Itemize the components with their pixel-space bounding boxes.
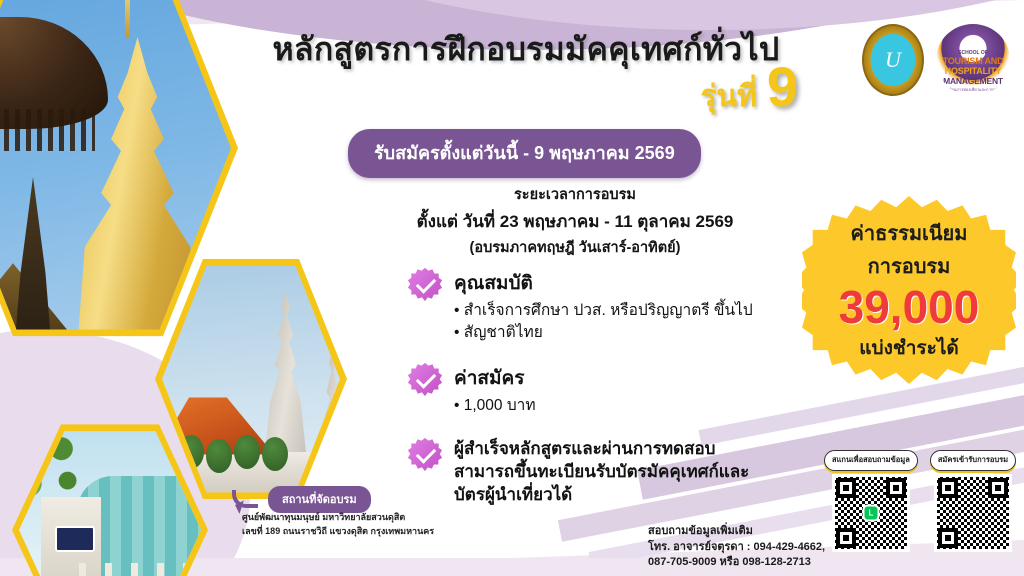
section-qualification: คุณสมบัติ • สำเร็จการศึกษา ปวส. หรือปริญ… bbox=[408, 268, 753, 345]
qr-code-inquiry-icon[interactable]: L bbox=[832, 474, 910, 552]
entrance-columns bbox=[79, 563, 199, 576]
edition-row: รุ่นที่ 9 bbox=[196, 62, 856, 120]
school-of-tourism-hospitality-management-logo-icon: SCHOOL OF TOURISM AND HOSPITALITY MANAGE… bbox=[936, 24, 1010, 96]
list-item: • สัญชาติไทย bbox=[454, 322, 753, 344]
venue-address-line2: เลขที่ 189 ถนนราชวิถี แขวงดุสิต กรุงเทพม… bbox=[242, 525, 434, 539]
qr-finder-top-left bbox=[938, 478, 958, 498]
qr-finder-top-right bbox=[988, 478, 1008, 498]
section-certification: ผู้สำเร็จหลักสูตรและผ่านการทดสอบ สามารถข… bbox=[408, 438, 749, 507]
fee-amount: 39,000 bbox=[839, 283, 980, 331]
qr-item-inquiry[interactable]: สแกนเพื่อสอบถามข้อมูล L bbox=[824, 450, 918, 552]
application-fee-body: ค่าสมัคร • 1,000 บาท bbox=[454, 363, 536, 417]
poster-root: หลักสูตรการฝึกอบรมมัคคุเทศก์ทั่วไป รุ่นท… bbox=[0, 0, 1024, 576]
edition-label: รุ่นที่ bbox=[700, 73, 756, 120]
qr-item-register[interactable]: สมัครเข้ารับการอบรม bbox=[930, 450, 1016, 552]
duration-range: ตั้งแต่ วันที่ 23 พฤษภาคม - 11 ตุลาคม 25… bbox=[380, 208, 770, 235]
qr-code-group: สแกนเพื่อสอบถามข้อมูล L สมัครเข้ารับการอ… bbox=[824, 450, 1016, 552]
fee-installment-note: แบ่งชำระได้ bbox=[859, 333, 958, 363]
fee-label-line2: การอบรม bbox=[868, 250, 951, 282]
fee-label-line1: ค่าธรรมเนียม bbox=[851, 217, 968, 249]
qr-code-register-icon[interactable] bbox=[934, 474, 1012, 552]
contact-heading: สอบถามข้อมูลเพิ่มเติม bbox=[648, 524, 825, 540]
check-burst-icon bbox=[408, 363, 442, 397]
list-item: • 1,000 บาท bbox=[454, 395, 536, 417]
school-logo-line3: HOSPITALITY bbox=[945, 66, 1002, 76]
qualification-body: คุณสมบัติ • สำเร็จการศึกษา ปวส. หรือปริญ… bbox=[454, 268, 753, 345]
school-logo-line2: TOURISM AND bbox=[943, 56, 1004, 66]
qr-finder-top-left bbox=[836, 478, 856, 498]
venue-badge: สถานที่จัดอบรม bbox=[268, 486, 371, 513]
line-app-icon: L bbox=[862, 505, 879, 522]
check-burst-icon bbox=[408, 268, 442, 302]
duration-heading: ระยะเวลาการอบรม bbox=[380, 183, 770, 206]
topiary-tree bbox=[262, 437, 288, 471]
photo-wat-arun-inner bbox=[162, 261, 340, 497]
venue-address: ศูนย์พัฒนาทุนมนุษย์ มหาวิทยาลัยสวนดุสิต … bbox=[242, 511, 434, 538]
suan-dusit-university-seal-icon: U bbox=[862, 24, 924, 96]
contact-block: สอบถามข้อมูลเพิ่มเติม โทร. อาจารย์จตุรดา… bbox=[648, 524, 825, 571]
duration-note: (อบรมภาคทฤษฎี วันเสาร์-อาทิตย์) bbox=[380, 236, 770, 259]
qr-finder-bottom-left bbox=[836, 528, 856, 548]
list-item: • สำเร็จการศึกษา ปวส. หรือปริญญาตรี ขึ้น… bbox=[454, 300, 753, 322]
venue-address-line1: ศูนย์พัฒนาทุนมนุษย์ มหาวิทยาลัยสวนดุสิต bbox=[242, 511, 434, 525]
contact-phone-line1: โทร. อาจารย์จตุรดา : 094-429-4662, bbox=[648, 540, 825, 556]
edition-number: 9 bbox=[767, 62, 798, 112]
logo-group: U SCHOOL OF TOURISM AND HOSPITALITY MANA… bbox=[862, 24, 1010, 96]
umbrella-lace-fringe bbox=[0, 109, 95, 151]
qr-finder-bottom-left bbox=[938, 528, 958, 548]
curved-arrow-icon bbox=[232, 490, 258, 508]
qr-caption-register: สมัครเข้ารับการอบรม bbox=[930, 450, 1016, 471]
building-signboard bbox=[55, 526, 95, 552]
section-application-fee: ค่าสมัคร • 1,000 บาท bbox=[408, 363, 536, 417]
application-period-badge: รับสมัครตั้งแต่วันนี้ - 9 พฤษภาคม 2569 bbox=[348, 129, 701, 178]
contact-phone-line2: 087-705-9009 หรือ 098-128-2713 bbox=[648, 555, 825, 571]
school-logo-line5: โรงเรียนการท่องเที่ยวและการบริการ bbox=[942, 86, 1005, 93]
stupa-spire bbox=[125, 0, 130, 37]
training-fee-starburst-badge: ค่าธรรมเนียม การอบรม 39,000 แบ่งชำระได้ bbox=[802, 196, 1016, 384]
school-logo-line4: MANAGEMENT bbox=[943, 76, 1003, 86]
certification-line-3: บัตรผู้นำเที่ยวได้ bbox=[454, 484, 749, 507]
topiary-tree bbox=[234, 435, 260, 469]
application-fee-heading: ค่าสมัคร bbox=[454, 363, 536, 393]
certification-body: ผู้สำเร็จหลักสูตรและผ่านการทดสอบ สามารถข… bbox=[454, 438, 749, 507]
check-burst-icon bbox=[408, 438, 442, 472]
qr-caption-inquiry: สแกนเพื่อสอบถามข้อมูล bbox=[824, 450, 918, 471]
qualification-heading: คุณสมบัติ bbox=[454, 268, 753, 298]
certification-line-1: ผู้สำเร็จหลักสูตรและผ่านการทดสอบ bbox=[454, 438, 749, 461]
training-duration-block: ระยะเวลาการอบรม ตั้งแต่ วันที่ 23 พฤษภาค… bbox=[380, 183, 770, 259]
certification-line-2: สามารถขึ้นทะเบียนรับบัตรมัคคุเทศก์และ bbox=[454, 461, 749, 484]
qr-finder-top-right bbox=[886, 478, 906, 498]
